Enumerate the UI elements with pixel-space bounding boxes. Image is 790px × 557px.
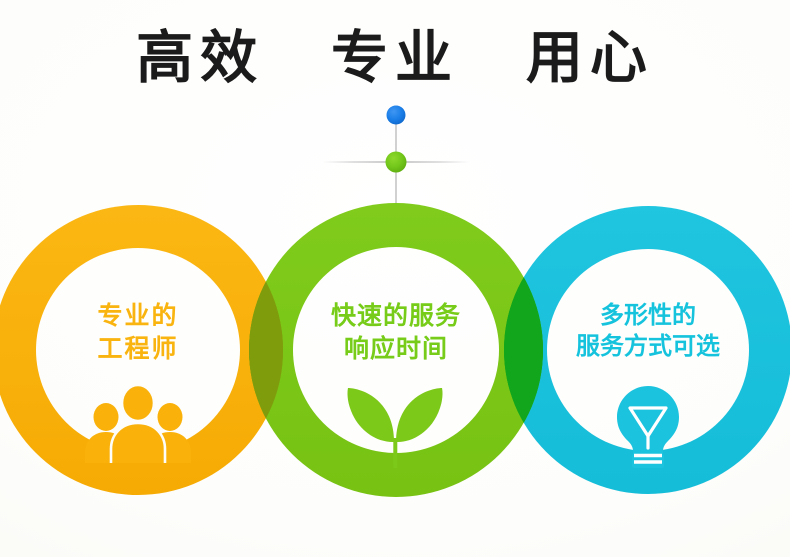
infographic-canvas: 高效 专业 用心 xyxy=(0,0,790,557)
venn-diagram xyxy=(0,0,790,557)
